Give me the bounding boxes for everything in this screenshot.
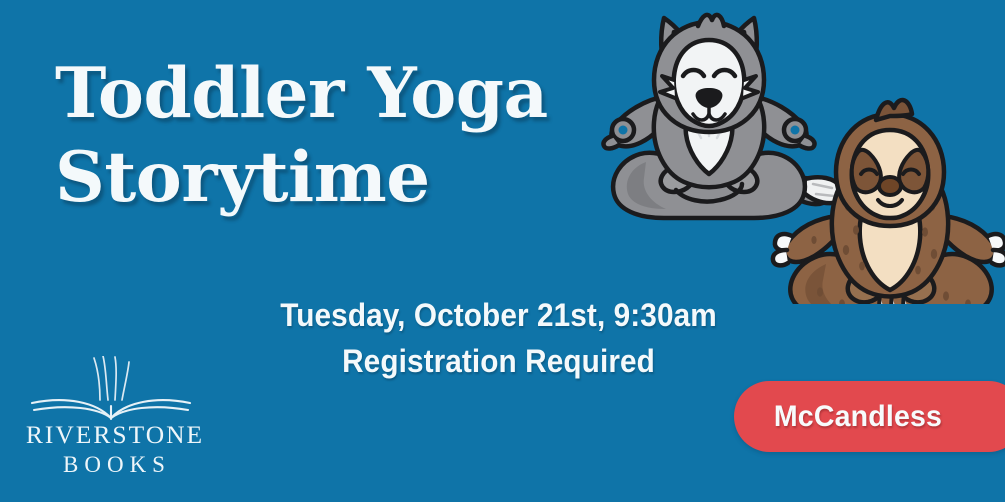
location-badge-label: McCandless <box>740 381 976 452</box>
poster-title: Toddler Yoga Storytime <box>55 52 615 220</box>
open-book-icon <box>16 356 212 426</box>
animals-illustration <box>580 4 1005 304</box>
title-line-2: Storytime <box>55 136 615 220</box>
event-poster: Toddler Yoga Storytime Tuesday, October … <box>0 0 1005 502</box>
title-line-1: Toddler Yoga <box>55 52 615 136</box>
logo-word-riverstone: RIVERSTONE <box>16 422 212 449</box>
logo-wordmark: RIVERSTONE BOOKS <box>16 422 212 480</box>
location-badge[interactable]: McCandless <box>734 381 1005 452</box>
event-datetime: Tuesday, October 21st, 9:30am <box>35 292 962 338</box>
logo-word-books: BOOKS <box>16 449 212 480</box>
riverstone-books-logo: RIVERSTONE BOOKS <box>16 356 212 482</box>
meditating-wolf-icon <box>603 15 842 218</box>
